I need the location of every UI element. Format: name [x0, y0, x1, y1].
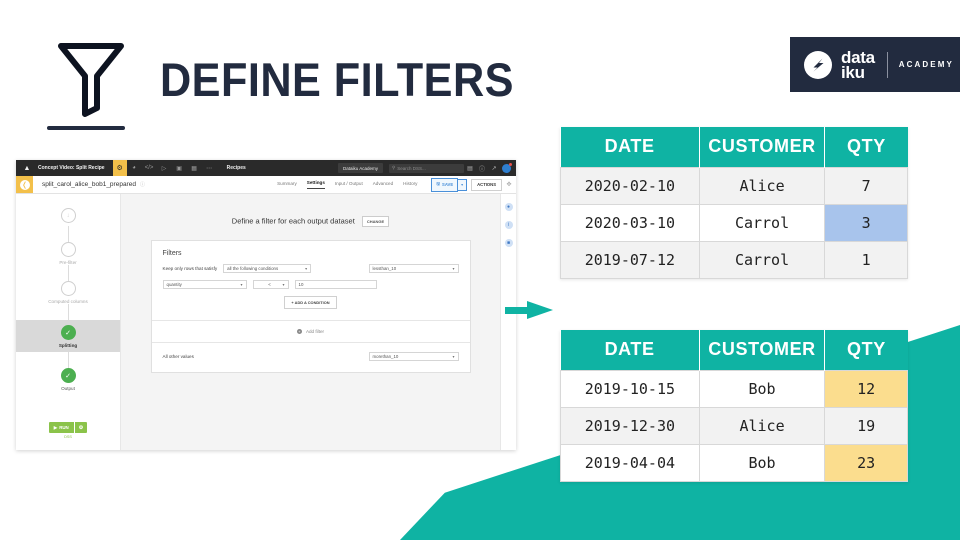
column-header-date: DATE [561, 127, 700, 168]
output-table-lessthan-10: DATE CUSTOMER QTY 2020-02-10 Alice 7 202… [560, 127, 908, 279]
cell-date: 2019-04-04 [561, 445, 700, 482]
step-connector [68, 265, 69, 281]
keep-rows-label: Keep only rows that satisfy [163, 266, 218, 271]
other-values-row: All other values morethan_10 ▾ [163, 352, 459, 361]
chevron-down-icon: ▾ [240, 282, 242, 287]
save-icon: 🖫 [436, 181, 440, 188]
avatar[interactable] [502, 164, 511, 173]
table-row: 2019-04-04 Bob 23 [561, 445, 908, 482]
recipe-steps-sidebar: ↓ Pre-filter Computed columns [16, 194, 121, 450]
info-icon[interactable]: i [505, 221, 513, 229]
step-connector [68, 352, 69, 368]
column-header-date: DATE [561, 330, 700, 371]
logo-divider [887, 52, 888, 78]
column-header-qty: QTY [825, 127, 908, 168]
dataset-icon[interactable]: ▦ [187, 165, 202, 172]
output-table-morethan-10: DATE CUSTOMER QTY 2019-10-15 Bob 12 2019… [560, 330, 908, 482]
condition-operator-select[interactable]: < ▾ [253, 280, 289, 289]
step-node-icon: ✓ [61, 368, 76, 383]
clock-icon[interactable]: ◕ [127, 165, 142, 171]
step-splitting[interactable]: ✓ Splitting [16, 320, 120, 352]
info-icon[interactable]: ⓘ [140, 181, 145, 188]
navbar-section-label[interactable]: Recipes [227, 165, 246, 171]
cell-customer: Carrol [699, 205, 825, 242]
tab-settings[interactable]: Settings [307, 180, 325, 189]
condition-column-value: quantity [167, 282, 182, 287]
app-navbar: ▲ Concept Video: Split Recipe ⚙ ◕ </> ▷ … [16, 160, 516, 176]
play-icon: ▶ [54, 425, 57, 431]
logo-academy-label: ACADEMY [899, 60, 954, 69]
column-header-customer: CUSTOMER [699, 330, 825, 371]
step-label: Pre-filter [16, 260, 120, 265]
cell-customer: Alice [699, 408, 825, 445]
step-node-icon: ↓ [61, 208, 76, 223]
step-output[interactable]: ✓ Output [16, 368, 120, 391]
other-values-label: All other values [163, 354, 194, 359]
cell-customer: Alice [699, 168, 825, 205]
cell-customer: Bob [699, 445, 825, 482]
gear-icon[interactable]: ⚙ [74, 422, 87, 433]
recipe-name[interactable]: split_carol_alice_bob1_prepared [42, 181, 136, 188]
logo-word-iku: iku [841, 65, 875, 80]
collapse-icon[interactable]: ✥ [502, 181, 516, 188]
output-dataset-select[interactable]: lessthan_10 ▾ [369, 264, 459, 273]
cell-date: 2020-03-10 [561, 205, 700, 242]
monitoring-icon[interactable]: ↗ [488, 165, 500, 172]
table-row: 2019-10-15 Bob 12 [561, 371, 908, 408]
cell-qty: 23 [825, 445, 908, 482]
cell-date: 2019-10-15 [561, 371, 700, 408]
step-computed-columns[interactable]: Computed columns [16, 281, 120, 304]
actions-button[interactable]: ACTIONS [471, 179, 502, 191]
step-connector [68, 304, 69, 320]
more-icon[interactable]: ⋯ [202, 165, 217, 172]
output-dataset-value: lessthan_10 [373, 266, 397, 271]
funnel-icon [55, 38, 127, 118]
tab-summary[interactable]: Summary [277, 181, 297, 189]
save-button[interactable]: 🖫 SAVE [431, 178, 458, 192]
run-button[interactable]: ▶ RUN ⚙ [49, 422, 87, 433]
run-engine-label: DSS [16, 435, 120, 439]
condition-value: 10 [299, 282, 304, 287]
dataiku-app-screenshot: ▲ Concept Video: Split Recipe ⚙ ◕ </> ▷ … [16, 160, 516, 450]
cell-qty: 7 [825, 168, 908, 205]
chevron-down-icon: ▾ [452, 354, 454, 359]
cell-qty: 3 [825, 205, 908, 242]
run-label: RUN [59, 425, 69, 430]
step-pre-filter[interactable]: Pre-filter [16, 242, 120, 265]
column-header-customer: CUSTOMER [699, 127, 825, 168]
apps-grid-icon[interactable]: ▤ [464, 165, 476, 172]
recipe-settings-main: Define a filter for each output dataset … [121, 194, 500, 450]
tab-history[interactable]: History [403, 181, 417, 189]
table-row: 2020-03-10 Carrol 3 [561, 205, 908, 242]
chevron-down-icon: ▾ [305, 266, 307, 271]
condition-operator-value: < [268, 282, 271, 287]
filters-panel-title: Filters [152, 241, 470, 264]
dashboard-icon[interactable]: ▣ [172, 165, 187, 172]
settings-heading-row: Define a filter for each output dataset … [121, 216, 500, 227]
table-header-row: DATE CUSTOMER QTY [561, 127, 908, 168]
chevron-down-icon: ▾ [282, 282, 284, 287]
table-row: 2020-02-10 Alice 7 [561, 168, 908, 205]
step-label: Computed columns [16, 299, 120, 304]
cell-qty: 1 [825, 242, 908, 279]
save-dropdown-button[interactable]: ▾ [458, 179, 467, 191]
chevron-down-icon: ▾ [452, 266, 454, 271]
dataiku-bird-icon [804, 51, 832, 79]
filters-panel: Filters Keep only rows that satisfy all … [151, 240, 471, 373]
table-row: 2019-07-12 Carrol 1 [561, 242, 908, 279]
split-recipe-glyph: ❬ [20, 180, 30, 190]
add-condition-button[interactable]: + ADD A CONDITION [284, 296, 336, 309]
step-label: Output [16, 386, 120, 391]
add-filter-button[interactable]: + Add filter [152, 321, 470, 342]
add-condition-row: + ADD A CONDITION [163, 296, 459, 309]
cell-date: 2019-07-12 [561, 242, 700, 279]
other-values-value: morethan_10 [373, 354, 399, 359]
settings-heading: Define a filter for each output dataset [232, 216, 355, 225]
teal-right-arrow [505, 300, 553, 320]
step-label: Splitting [16, 343, 120, 348]
right-rail: ● i ■ [500, 194, 516, 450]
title-underline [47, 126, 125, 130]
step-connector [68, 226, 69, 242]
step-node-icon [61, 242, 76, 257]
step-node-icon [61, 281, 76, 296]
plus-icon: + [297, 329, 302, 334]
cell-customer: Carrol [699, 242, 825, 279]
page-title: DEFINE FILTERS [160, 52, 514, 107]
slide-root: DEFINE FILTERS data iku ACADEMY DATE CUS… [0, 0, 960, 540]
search-placeholder: Search DSS... [397, 166, 426, 171]
filter-mode-row: Keep only rows that satisfy all the foll… [163, 264, 459, 273]
tab-advanced[interactable]: Advanced [373, 181, 393, 189]
condition-column-select[interactable]: quantity ▾ [163, 280, 247, 289]
cell-customer: Bob [699, 371, 825, 408]
search-icon: ⚲ [392, 165, 395, 171]
recipe-subheader: ❬ split_carol_alice_bob1_prepared ⓘ Summ… [16, 176, 516, 194]
match-mode-value: all the following conditions [227, 266, 278, 271]
cell-qty: 12 [825, 371, 908, 408]
project-name[interactable]: Concept Video: Split Recipe [38, 165, 105, 171]
cell-date: 2020-02-10 [561, 168, 700, 205]
help-icon[interactable]: ⓘ [476, 164, 488, 173]
step-input[interactable]: ↓ [16, 208, 120, 223]
dataiku-academy-logo: data iku ACADEMY [790, 37, 960, 92]
search-input[interactable]: ⚲ Search DSS... [389, 164, 464, 173]
change-button[interactable]: CHANGE [362, 216, 389, 227]
column-header-qty: QTY [825, 330, 908, 371]
instance-badge[interactable]: Dataiku Academy [338, 163, 383, 173]
code-icon[interactable]: </> [142, 165, 157, 171]
step-node-icon: ✓ [61, 325, 76, 340]
condition-value-input[interactable]: 10 [295, 280, 377, 289]
flow-icon[interactable]: ⚙ [113, 160, 127, 176]
cell-date: 2019-12-30 [561, 408, 700, 445]
run-area: ▶ RUN ⚙ DSS [16, 422, 120, 439]
split-recipe-icon: ❬ [16, 176, 33, 193]
recipe-tabs: Summary Settings Input / Output Advanced… [277, 178, 502, 192]
save-label: SAVE [442, 182, 453, 187]
chat-icon[interactable]: ■ [505, 239, 513, 247]
other-values-select[interactable]: morethan_10 ▾ [369, 352, 459, 361]
condition-row: quantity ▾ < ▾ 10 [163, 280, 459, 289]
add-filter-label: Add filter [306, 329, 324, 334]
dataiku-logo-icon[interactable]: ▲ [16, 165, 38, 172]
lab-icon[interactable]: ▷ [157, 165, 172, 172]
cell-qty: 19 [825, 408, 908, 445]
tab-input-output[interactable]: Input / Output [335, 181, 363, 189]
app-body: ↓ Pre-filter Computed columns [16, 194, 516, 450]
match-mode-select[interactable]: all the following conditions ▾ [223, 264, 311, 273]
table-header-row: DATE CUSTOMER QTY [561, 330, 908, 371]
table-row: 2019-12-30 Alice 19 [561, 408, 908, 445]
help-bubble-icon[interactable]: ● [505, 203, 513, 211]
other-values-section: All other values morethan_10 ▾ [152, 343, 470, 372]
